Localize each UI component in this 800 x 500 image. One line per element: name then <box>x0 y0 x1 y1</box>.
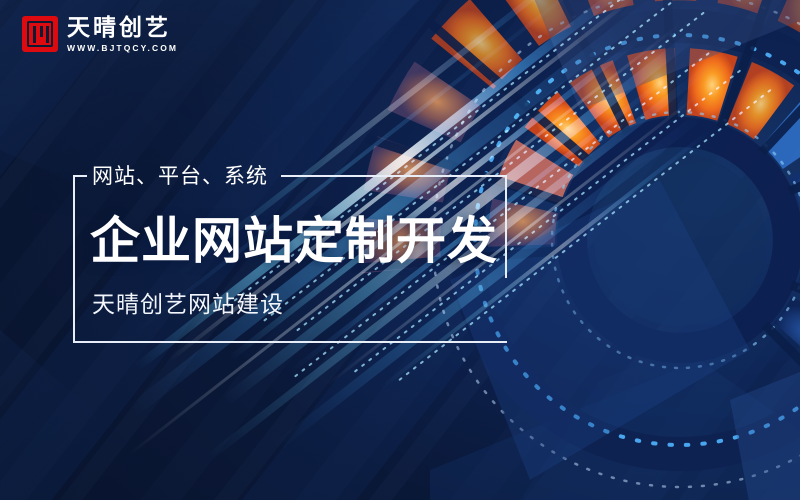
logo-text-group: 天晴创艺 WWW.BJTQCY.COM <box>67 16 178 53</box>
headline-title: 企业网站定制开发 <box>90 201 498 273</box>
frame-top-rule <box>281 175 507 177</box>
logo-company-name: 天晴创艺 <box>67 16 178 39</box>
logo-mark-bar-3 <box>46 26 49 43</box>
logo-mark-bar-1 <box>33 26 36 43</box>
frame-corner-stub <box>73 175 87 177</box>
headline-subtitle: 网站、平台、系统 <box>92 160 268 190</box>
brand-logo[interactable]: 天晴创艺 WWW.BJTQCY.COM <box>22 16 178 53</box>
frame-left-rule <box>73 175 75 342</box>
frame-bottom-rule <box>73 341 507 343</box>
frame-right-rule <box>505 175 507 278</box>
logo-mark-icon <box>22 16 58 52</box>
logo-mark-bar-2 <box>40 26 43 37</box>
headline-tagline: 天晴创艺网站建设 <box>92 285 284 319</box>
promo-banner: 天晴创艺 WWW.BJTQCY.COM 网站、平台、系统 企业网站定制开发 天晴… <box>0 0 800 500</box>
headline-block: 网站、平台、系统 企业网站定制开发 天晴创艺网站建设 <box>73 173 507 343</box>
logo-website-url: WWW.BJTQCY.COM <box>67 44 178 53</box>
